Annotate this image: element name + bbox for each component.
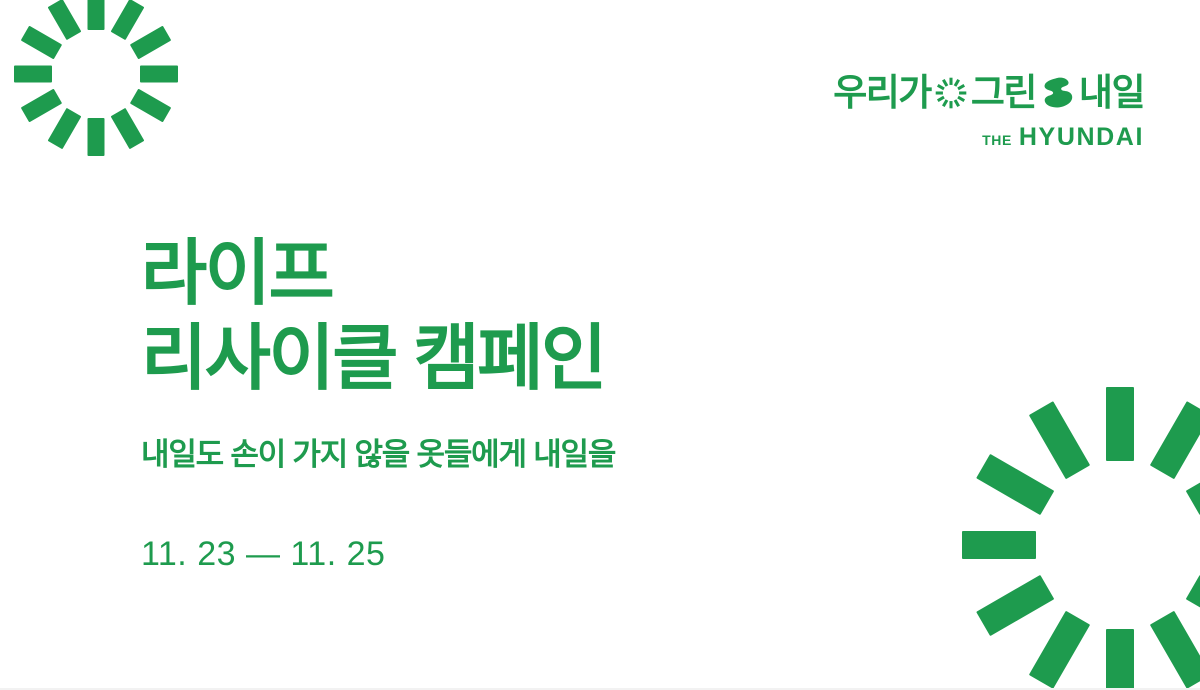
earth-blob-icon (1039, 76, 1077, 110)
the-hyundai-wordmark: THE HYUNDAI (833, 125, 1144, 150)
sunburst-decoration-top-left (8, 0, 184, 162)
headline-line-2: 리사이클 캠페인 (141, 317, 841, 402)
wordmark-hyundai: HYUNDAI (1019, 125, 1144, 150)
brand-lockup: 우리가 (833, 74, 1144, 150)
campaign-subheadline: 내일도 손이 가지 않을 옷들에게 내일을 (141, 436, 841, 475)
wordmark-the: THE (982, 133, 1012, 147)
slogan-word-woorigа: 우리가 (833, 74, 931, 111)
headline-line-1: 라이프 (141, 232, 841, 317)
campaign-dates: 11. 23 — 11. 25 (141, 537, 841, 571)
sunburst-icon (934, 76, 968, 110)
campaign-poster: 우리가 (0, 0, 1200, 690)
slogan-word-tomorrow: 내일 (1079, 74, 1144, 111)
sunburst-decoration-bottom-right (952, 377, 1200, 690)
slogan-word-green: 그린 (971, 74, 1036, 111)
campaign-copy-block: 라이프 리사이클 캠페인 내일도 손이 가지 않을 옷들에게 내일을 11. 2… (141, 232, 841, 571)
brand-slogan: 우리가 (833, 74, 1144, 111)
page-title: 라이프 리사이클 캠페인 (141, 232, 841, 402)
